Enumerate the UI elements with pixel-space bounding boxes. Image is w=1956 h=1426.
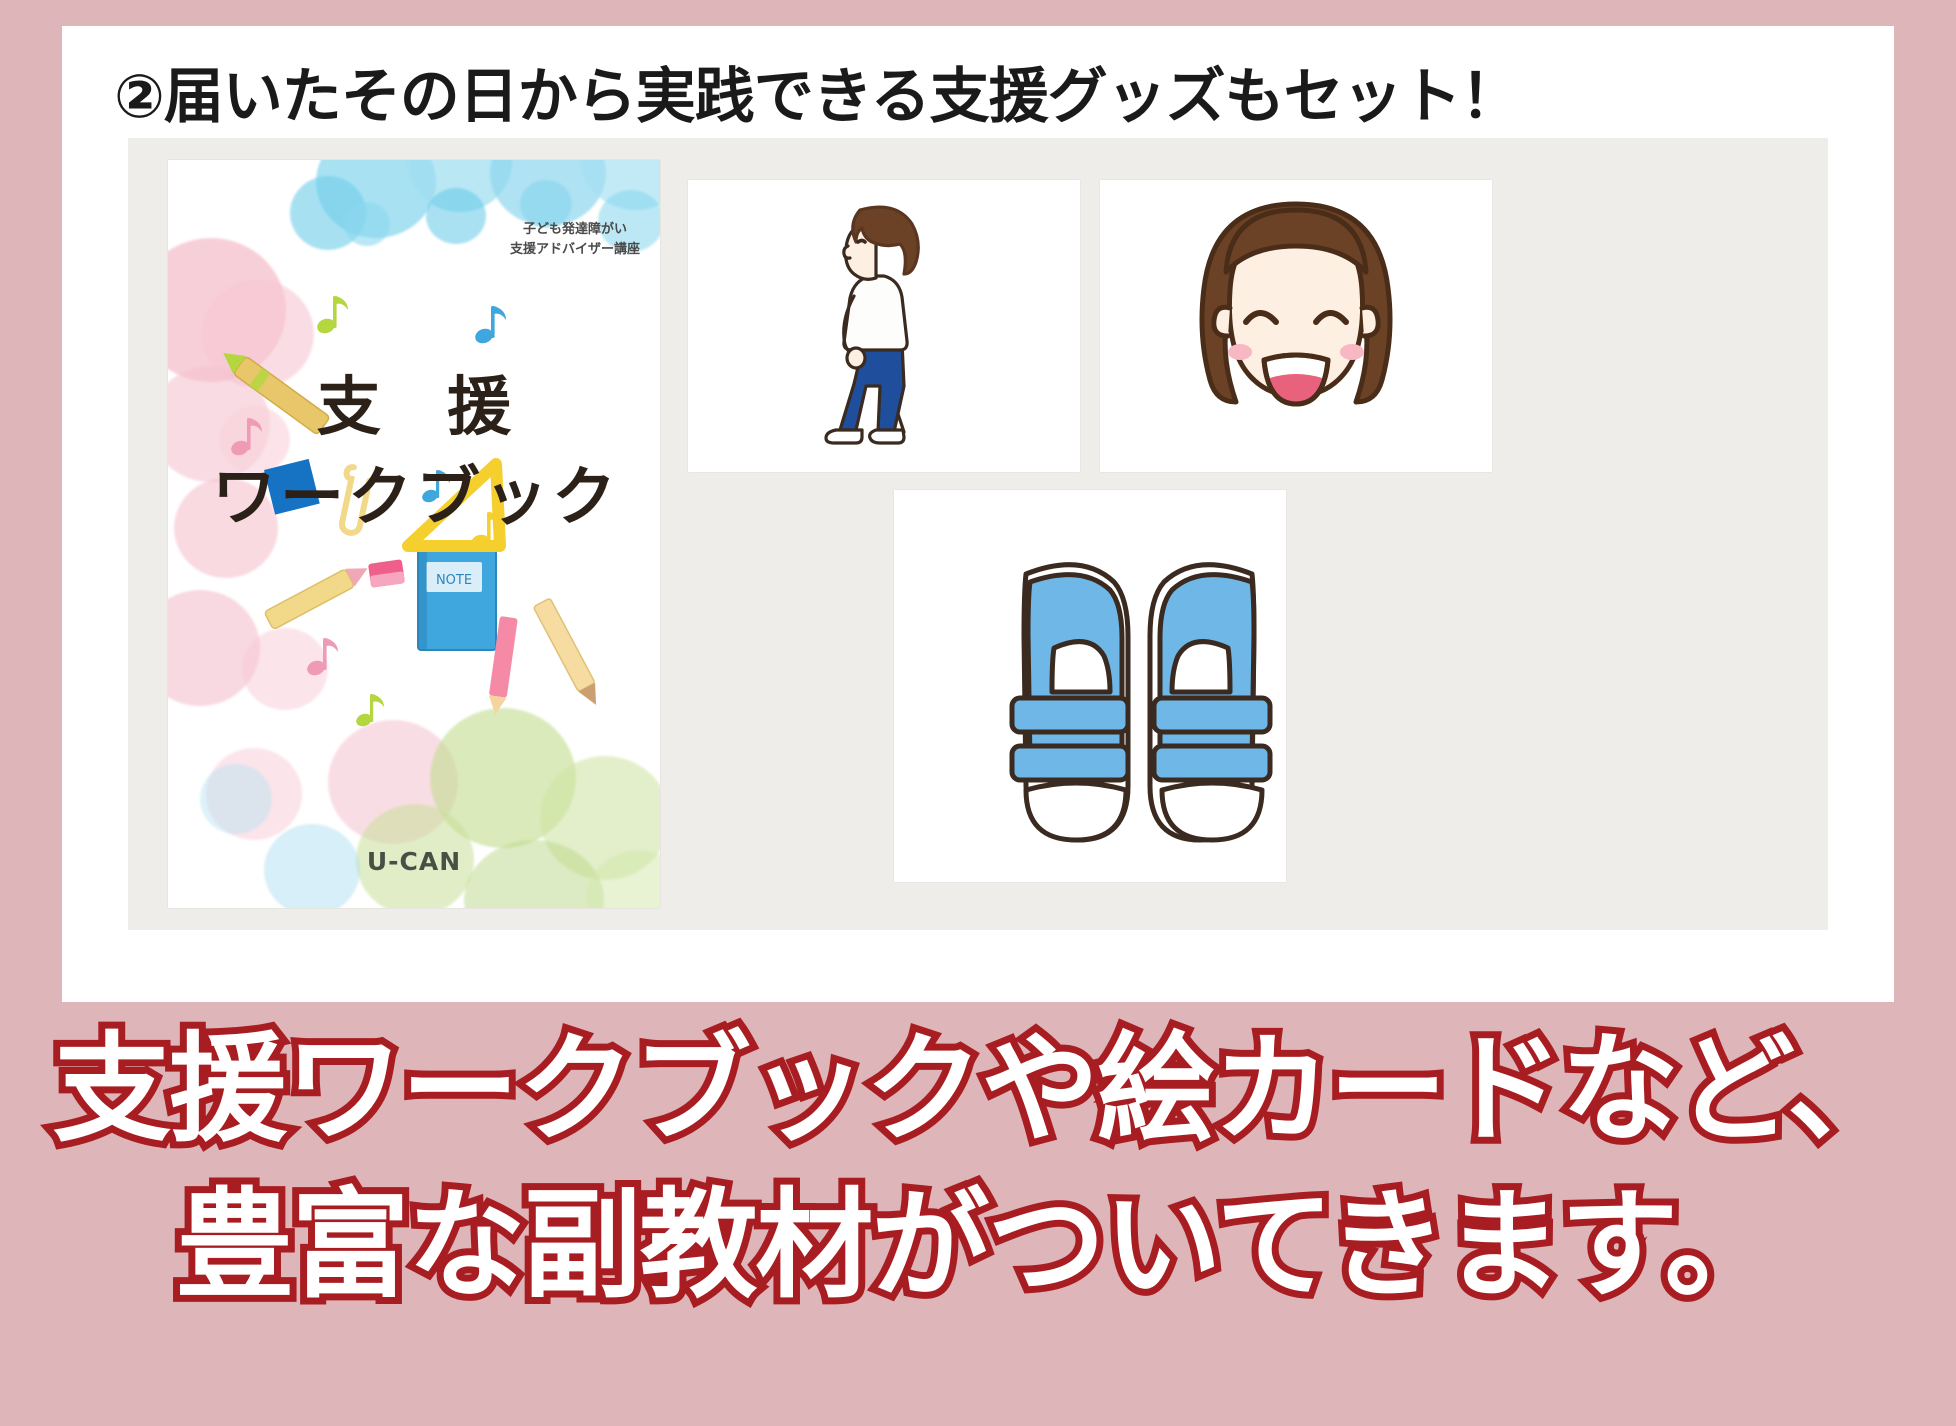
- caption-line-1: 支援ワークブックや絵カードなど、: [0, 1012, 1956, 1168]
- content-panel: ②届いたその日から実践できる支援グッズもセット！: [62, 26, 1894, 1002]
- workbook-subtitle-line1: 子ども発達障がい: [510, 220, 640, 240]
- smiling-girl-face-illustration: [1100, 180, 1492, 472]
- workbook-artwork: NOTE: [168, 160, 660, 908]
- svg-text:NOTE: NOTE: [436, 573, 472, 588]
- shoe-right: [1150, 565, 1270, 840]
- pencil-icon: [533, 598, 604, 709]
- materials-showcase: NOTE: [128, 138, 1828, 930]
- caption-line-2: 豊富な副教材がついてきます。: [0, 1168, 1956, 1324]
- music-note-icon: [473, 306, 506, 346]
- caption-block: 支援ワークブックや絵カードなど、 豊富な副教材がついてきます。: [0, 1012, 1956, 1324]
- eraser-icon: [368, 559, 405, 587]
- music-note-icon: [354, 694, 384, 728]
- ucan-logo: U-CAN: [168, 847, 660, 876]
- workbook-subtitle: 子ども発達障がい 支援アドバイザー講座: [510, 220, 640, 259]
- shoes-card: [894, 490, 1286, 882]
- music-note-icon: [315, 296, 348, 336]
- workbook-subtitle-line2: 支援アドバイザー講座: [510, 240, 640, 260]
- shoe-left: [1012, 565, 1128, 840]
- crayon-icon: [264, 559, 372, 629]
- smiling-face-card: [1100, 180, 1492, 472]
- panel-heading: ②届いたその日から実践できる支援グッズもセット！: [114, 48, 1874, 135]
- notebook-icon: NOTE: [418, 546, 496, 650]
- workbook-cover: NOTE: [168, 160, 660, 908]
- music-note-icon: [305, 638, 338, 678]
- walking-child-card: [688, 180, 1080, 472]
- workbook-title-line2: ワークブック: [168, 446, 660, 538]
- blue-shoes-illustration: [894, 490, 1286, 882]
- workbook-title-line1: 支 援: [168, 356, 660, 448]
- walking-child-illustration: [688, 180, 1080, 472]
